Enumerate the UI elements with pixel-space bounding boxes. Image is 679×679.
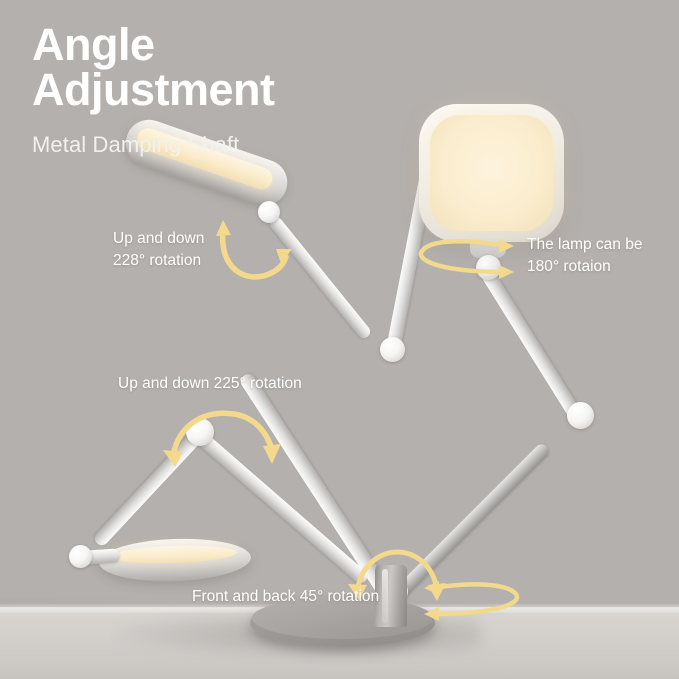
upright-mid-joint bbox=[380, 337, 405, 362]
product-infographic-scene: Angle Adjustment Metal Damping Shaft Up … bbox=[0, 0, 679, 679]
annotation-up-down-228: Up and down 228° rotation bbox=[113, 228, 204, 272]
flat-head-joint bbox=[69, 545, 92, 568]
lamp-head-panel-glow bbox=[430, 115, 553, 231]
lamp-head-bar bbox=[120, 114, 294, 212]
page-subtitle: Metal Damping Shaft bbox=[32, 132, 239, 158]
annotation-lamp-180-line1: The lamp can be bbox=[527, 234, 642, 256]
right-upper-arm bbox=[475, 260, 588, 429]
right-elbow-joint bbox=[567, 402, 594, 429]
annotation-up-down-225: Up and down 225° rotation bbox=[118, 373, 302, 395]
annotation-lamp-180-line2: 180° rotaion bbox=[527, 256, 642, 278]
curved-double-arrow-down-icon bbox=[159, 404, 285, 470]
lamp-head-flat bbox=[98, 536, 251, 583]
annotation-lamp-180: The lamp can be 180° rotaion bbox=[527, 234, 642, 278]
annotation-front-back-45-line1: Front and back 45° rotation bbox=[192, 586, 379, 608]
curved-double-arrow-up-icon bbox=[213, 216, 295, 290]
annotation-up-down-228-line1: Up and down bbox=[113, 228, 204, 250]
annotation-up-down-228-line2: 228° rotation bbox=[113, 250, 204, 272]
annotation-up-down-225-line1: Up and down 225° rotation bbox=[118, 373, 302, 395]
page-title-line2: Adjustment bbox=[32, 67, 275, 112]
annotation-front-back-45: Front and back 45° rotation bbox=[192, 586, 379, 608]
page-title-line1: Angle bbox=[32, 22, 275, 67]
loop-arrow-right-icon bbox=[413, 235, 518, 285]
page-title: Angle Adjustment bbox=[32, 22, 275, 112]
